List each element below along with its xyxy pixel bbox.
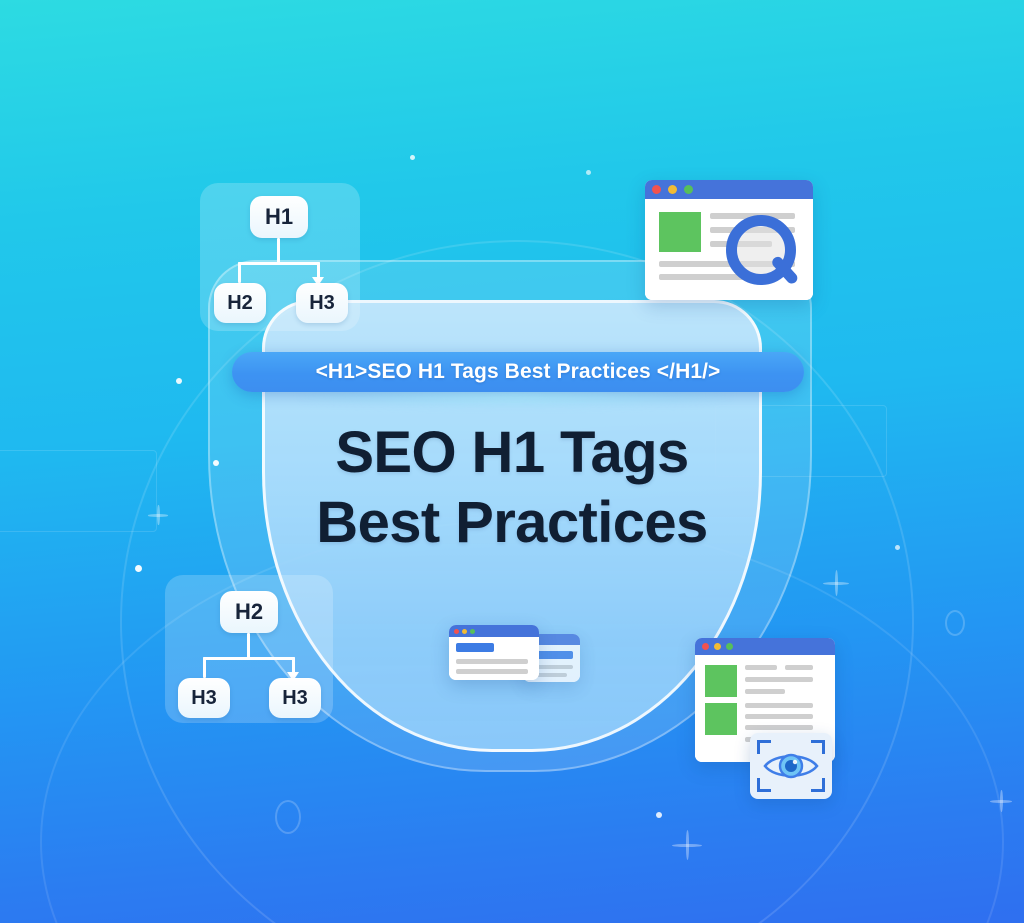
h3-node-right[interactable]: H3 [269,678,321,718]
content-line [745,677,813,682]
h1-connector-horizontal [238,262,320,265]
window-maximize-dot[interactable] [684,185,693,194]
h3-node-left[interactable]: H3 [178,678,230,718]
window-titlebar [449,625,539,637]
content-line [745,689,785,694]
h2-connector-vertical [247,633,250,659]
content-line [456,669,528,674]
h2-node-label: H2 [227,292,253,315]
decor-ring-2 [945,610,965,636]
window-minimize-dot[interactable] [714,643,721,650]
window-close-dot[interactable] [454,629,459,634]
content-line [745,714,813,719]
content-thumbnail [705,703,737,735]
page-title-line1: SEO H1 Tags [335,420,688,485]
window-close-dot[interactable] [652,185,661,194]
h2-connector-horizontal [203,657,295,660]
content-line [745,703,813,708]
h2-root-node[interactable]: H2 [220,591,278,633]
decor-dot [586,170,591,175]
window-minimize-dot[interactable] [462,629,467,634]
eye-icon [762,749,820,783]
h3-left-label: H3 [191,687,217,710]
eye-scan-panel[interactable] [750,733,832,799]
h3-node[interactable]: H3 [296,283,348,323]
content-line [785,665,813,670]
h2-node[interactable]: H2 [214,283,266,323]
h1-code-banner[interactable]: <H1>SEO H1 Tags Best Practices </H1/> [232,352,804,392]
h3-right-label: H3 [282,687,308,710]
h3-node-label: H3 [309,292,335,315]
h1-node[interactable]: H1 [250,196,308,238]
h1-connector-vertical [277,238,280,264]
content-thumbnail [659,212,701,252]
content-line [745,665,777,670]
decor-dot [410,155,415,160]
page-title-line2: Best Practices [212,488,812,558]
h2-connector-left-drop [203,657,206,678]
content-line [456,659,528,664]
stacked-browser-window-front[interactable] [449,625,539,680]
h1-hierarchy-card: H1 H2 H3 [200,183,360,331]
window-close-dot[interactable] [702,643,709,650]
content-line [745,725,813,730]
window-minimize-dot[interactable] [668,185,677,194]
window-maximize-dot[interactable] [726,643,733,650]
window-titlebar [695,638,835,655]
decor-dot [176,378,182,384]
window-maximize-dot[interactable] [470,629,475,634]
page-title: SEO H1 Tags Best Practices [212,418,812,557]
h1-connector-left-drop [238,262,241,283]
h2-hierarchy-card: H2 H3 H3 [165,575,333,723]
window-titlebar [645,180,813,199]
window-content [449,637,539,680]
h1-node-label: H1 [265,204,293,230]
content-thumbnail [705,665,737,697]
h2-root-label: H2 [235,599,263,625]
content-heading-bar [456,643,494,652]
poster-canvas: H1 H2 H3 H2 H3 H3 [0,0,1024,923]
h1-code-banner-label: <H1>SEO H1 Tags Best Practices </H1/> [316,360,721,384]
